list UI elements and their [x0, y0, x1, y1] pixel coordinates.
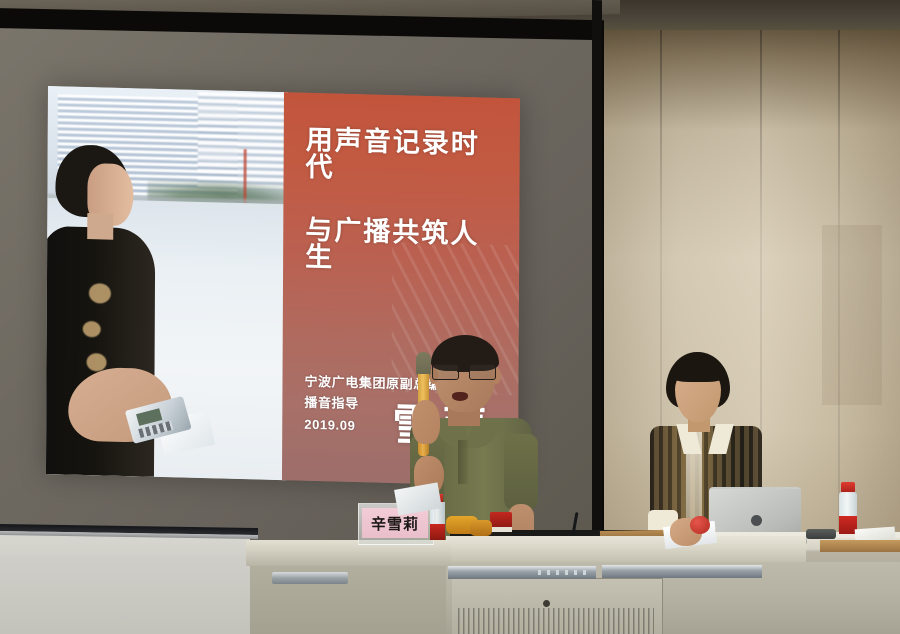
qipao-floral-1: [89, 283, 111, 304]
photo-woman-figure: [46, 144, 164, 477]
drawer-rail-holes: [538, 570, 588, 575]
speaker-mouth: [452, 392, 468, 401]
wall-patch: [822, 225, 882, 405]
console-vent-slots: [458, 608, 654, 634]
glasses-icon: [432, 364, 498, 379]
speaker-right-sleeve: [504, 434, 538, 510]
placard-name-text: 辛雪莉: [371, 513, 419, 534]
canister-top: [490, 512, 512, 528]
orange-desk-object-2[interactable]: [470, 520, 492, 536]
slide-title: 用声音记录时代 与广播共筑人生: [305, 127, 506, 276]
glasses-lens-right: [469, 364, 496, 380]
slide-title-line1: 用声音记录时代: [306, 125, 480, 183]
qipao-floral-2: [83, 321, 101, 337]
presenter-bangs: [670, 362, 726, 382]
podium-drawer-rail-left[interactable]: [272, 572, 348, 584]
screen-right-edge: [592, 0, 602, 560]
microphone-head: [416, 352, 431, 376]
slide-photo: [46, 86, 288, 480]
bottle-left-label: [430, 524, 445, 540]
photo-woman-neck: [87, 213, 113, 240]
speaker-shirt-placket: [458, 440, 468, 484]
console-drawer-rail-center[interactable]: [448, 566, 596, 579]
glasses-lens-left: [432, 364, 459, 380]
desk-small-device[interactable]: [806, 529, 836, 539]
name-placard: 辛雪莉: [362, 508, 428, 538]
glasses-bridge: [457, 370, 469, 372]
console-lock-icon[interactable]: [543, 600, 550, 607]
qipao-floral-3: [87, 353, 107, 372]
lecture-hall-photo: 用声音记录时代 与广播共筑人生 宁波广电集团原副总编辑 播音指导 2019.09…: [0, 0, 900, 634]
wood-trim-strip-right: [820, 540, 900, 552]
presenter-red-object: [690, 516, 710, 534]
floor-strip: [0, 556, 260, 634]
speaker-hand-holding-mic: [412, 400, 440, 444]
av-console-top: [446, 536, 806, 564]
slide-title-line2: 与广播共筑人生: [305, 217, 505, 276]
dell-logo-icon: [751, 515, 762, 526]
console-drawer-rail-right[interactable]: [602, 565, 762, 578]
